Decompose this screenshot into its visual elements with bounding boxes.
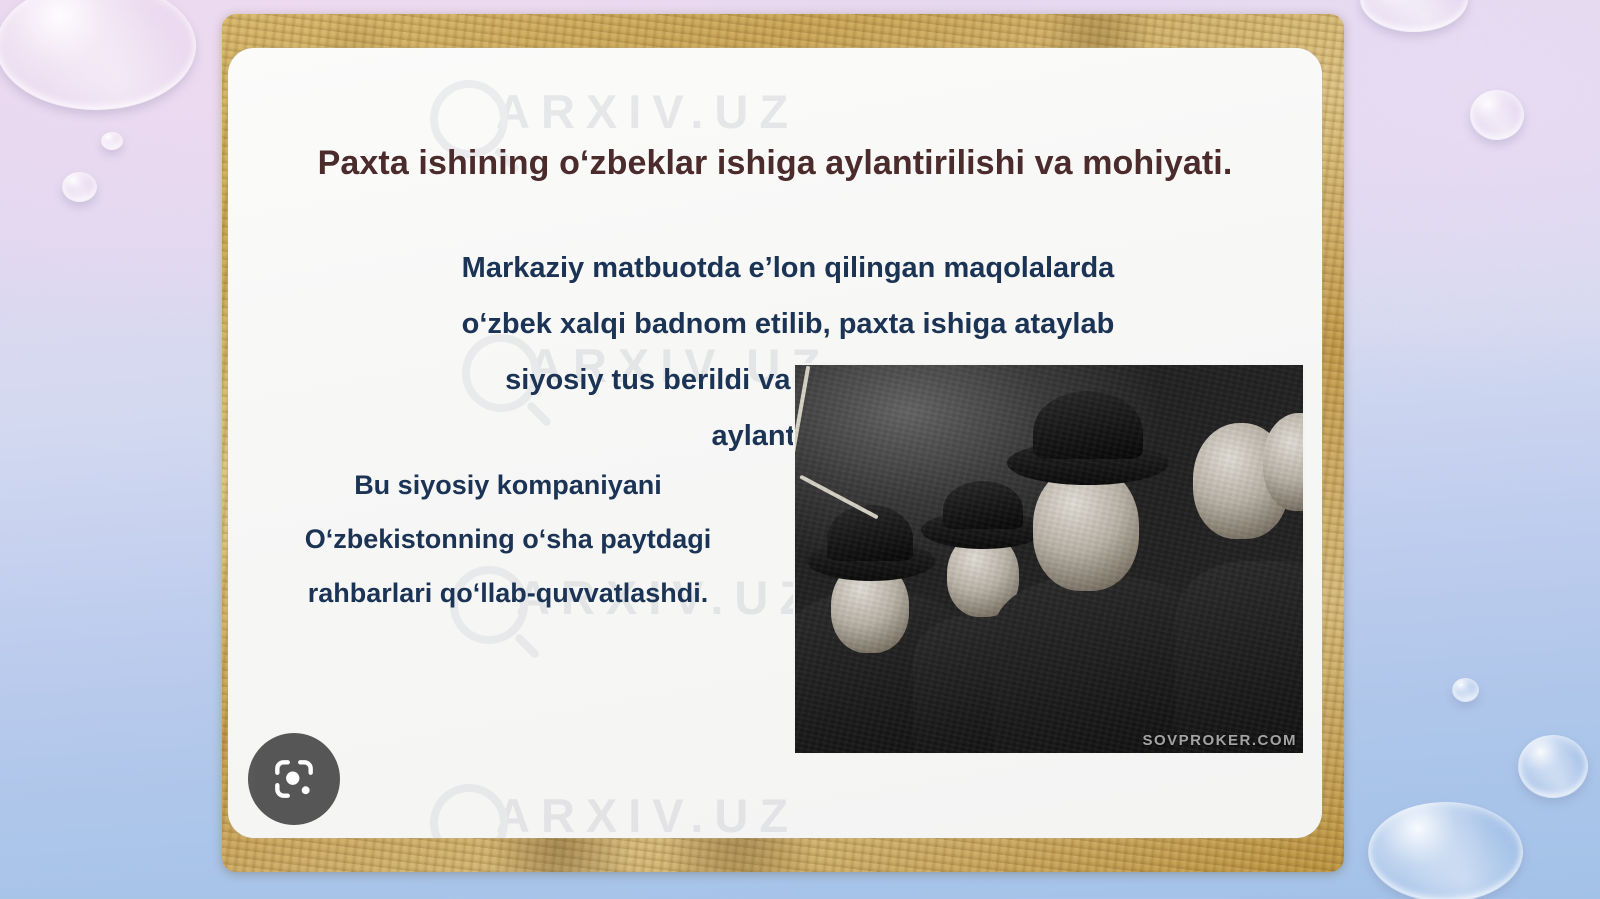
droplet xyxy=(1518,735,1588,798)
droplet xyxy=(1452,678,1479,702)
droplet xyxy=(1368,802,1523,899)
droplet xyxy=(1360,0,1468,32)
droplet xyxy=(101,132,123,150)
magnifier-icon xyxy=(430,784,508,838)
historical-photo: SOVPROKER.COM xyxy=(795,365,1303,753)
watermark-arxiv-footer: ARXIV.UZ xyxy=(496,788,799,838)
droplet xyxy=(1470,90,1524,140)
google-lens-button[interactable] xyxy=(248,733,340,825)
watermark-label: ARXIV.UZ xyxy=(496,789,799,838)
photo-source-watermark: SOVPROKER.COM xyxy=(1142,732,1297,749)
droplet xyxy=(0,0,196,110)
watermark-arxiv-top: ARXIV.UZ xyxy=(496,84,799,139)
slide-paragraph-2: Bu siyosiy kompaniyani O‘zbekistonning o… xyxy=(258,458,758,620)
photo-grain xyxy=(795,365,1303,753)
google-lens-icon xyxy=(269,754,319,804)
slide-content-card: ARXIV.UZ ARXIV.UZ ARXIV.UZ ARXIV.UZ Paxt… xyxy=(228,48,1322,838)
watermark-label: ARXIV.UZ xyxy=(496,85,799,138)
slide-title: Paxta ishining o‘zbeklar ishiga aylantir… xyxy=(228,144,1322,183)
droplet xyxy=(62,172,97,202)
